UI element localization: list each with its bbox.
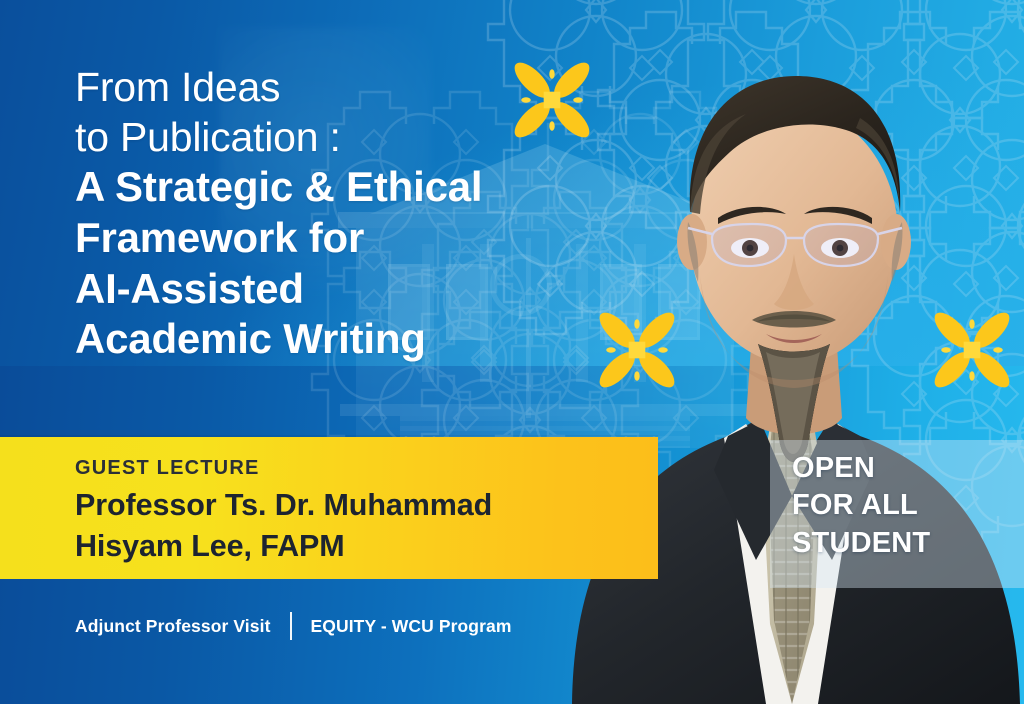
event-poster: From Ideas to Publication : A Strategic … [0, 0, 1024, 704]
headline-line-6: Academic Writing [75, 314, 635, 365]
footer-right-text: EQUITY - WCU Program [311, 616, 512, 637]
headline-line-3: A Strategic & Ethical [75, 162, 635, 213]
footer-left-text: Adjunct Professor Visit [75, 616, 271, 637]
badge-line-1: OPEN [792, 450, 1022, 487]
guest-lecture-banner: GUEST LECTURE Professor Ts. Dr. Muhammad… [0, 437, 658, 579]
four-petal-flower-motif [920, 298, 1024, 402]
badge-line-2: FOR ALL [792, 487, 1022, 524]
guest-lecture-kicker: GUEST LECTURE [75, 457, 260, 480]
open-for-all-badge: OPEN FOR ALL STUDENT [792, 450, 1022, 562]
speaker-name-line-2: Hisyam Lee, FAPM [75, 526, 638, 567]
headline-line-4: Framework for [75, 213, 635, 264]
footer-line: Adjunct Professor Visit EQUITY - WCU Pro… [75, 612, 512, 640]
headline-line-5: AI-Assisted [75, 264, 635, 315]
speaker-name-line-1: Professor Ts. Dr. Muhammad [75, 485, 638, 526]
speaker-name: Professor Ts. Dr. Muhammad Hisyam Lee, F… [75, 485, 638, 568]
footer-divider [290, 612, 292, 640]
badge-line-3: STUDENT [792, 525, 1022, 562]
